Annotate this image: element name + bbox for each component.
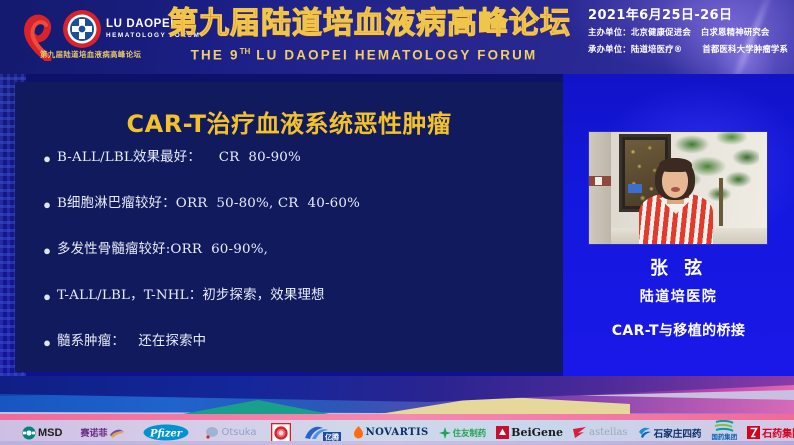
- sponsor-name: Otsuka: [221, 427, 256, 438]
- sponsor-name: NOVARTIS: [366, 427, 429, 438]
- astellas-logo-icon: [573, 427, 587, 439]
- speaker-mouth: [671, 187, 680, 192]
- bullet-text: B-ALL/LBL效果最好： CR 80-90%: [57, 148, 301, 168]
- bullet-dot-icon: ●: [37, 240, 57, 261]
- forum-title-en-ordinal: TH: [240, 47, 251, 56]
- sponsor-name: 住友制药: [453, 427, 487, 439]
- forum-logo-lockup: LU DAOPEI HEMATOLOGY FORUM 第九届陆道培血液病高峰论坛: [22, 5, 168, 69]
- sumitomo-logo-icon: [439, 427, 451, 439]
- sponsor-name: 国药集团: [712, 432, 738, 441]
- video-plant-stem: [719, 178, 723, 226]
- host-org-2: 白求恩精神研究会: [701, 27, 770, 37]
- list-item: ● B细胞淋巴瘤较好：ORR 50-80%, CR 40-60%: [37, 194, 547, 240]
- speaker-name: 张 弦: [563, 258, 794, 280]
- speaker-organization: 陆道培医院: [563, 288, 794, 306]
- list-item: ● T-ALL/LBL，T-NHL：初步探索，效果理想: [37, 286, 547, 332]
- cspc-logo-icon: [747, 426, 760, 439]
- organizer-label: 承办单位：: [588, 44, 631, 54]
- footer-bottom-rim: [0, 441, 794, 445]
- host-label: 主办单位：: [588, 27, 631, 37]
- bullet-text: T-ALL/LBL，T-NHL：初步探索，效果理想: [57, 286, 325, 306]
- bullet-dot-icon: ●: [37, 194, 57, 215]
- slide-title: CAR-T治疗血液系统恶性肿瘤: [15, 104, 563, 139]
- sponsor-footer: MSD 赛诺菲 Pfizer Otsuk: [0, 376, 794, 445]
- bullet-dot-icon: ●: [37, 148, 57, 169]
- video-artwork-accent: [628, 184, 642, 193]
- presentation-screenshot: LU DAOPEI HEMATOLOGY FORUM 第九届陆道培血液病高峰论坛…: [0, 0, 794, 445]
- video-door: [589, 132, 611, 245]
- yiteng-logo-icon: 亿腾: [303, 424, 343, 442]
- logo-en-primary: LU DAOPEI: [106, 19, 174, 31]
- forum-title-en-prefix: THE 9: [191, 47, 240, 62]
- beigene-logo-icon: [496, 426, 509, 439]
- otsuka-logo-icon: [205, 426, 219, 440]
- sponsor-name: MSD: [38, 427, 62, 439]
- bullet-dot-icon: ●: [37, 332, 57, 353]
- bullet-dot-icon: ●: [37, 286, 57, 307]
- host-row: 主办单位：北京健康促进会白求恩精神研究会: [588, 24, 792, 41]
- svg-text:亿腾: 亿腾: [325, 432, 340, 441]
- sponsor-name: astellas: [589, 427, 628, 438]
- sponsor-name: 石家庄四药: [654, 426, 702, 440]
- speaker-video[interactable]: [588, 131, 768, 245]
- novartis-logo-icon: [353, 426, 364, 439]
- organizer-org-1: 陆道培医疗®: [631, 44, 682, 54]
- forum-date: 2021年6月25日-26日: [588, 8, 792, 24]
- slide-bullet-list: ● B-ALL/LBL效果最好： CR 80-90% ● B细胞淋巴瘤较好：OR…: [37, 148, 547, 372]
- video-door-knob: [595, 177, 602, 185]
- sjz-siyao-logo-icon: [638, 426, 652, 439]
- speaker-panel: 张 弦 陆道培医院 CAR-T与移植的桥接: [563, 74, 794, 376]
- sponsor-name: 石药集团: [762, 425, 794, 440]
- speaker-topic: CAR-T与移植的桥接: [563, 322, 794, 340]
- forum-title-en-suffix: LU DAOPEI HEMATOLOGY FORUM: [250, 47, 537, 62]
- svg-text:Pfizer: Pfizer: [149, 429, 183, 440]
- forum-header-banner: LU DAOPEI HEMATOLOGY FORUM 第九届陆道培血液病高峰论坛…: [0, 0, 794, 74]
- sponsor-name: 赛诺菲: [80, 426, 107, 439]
- red-circle-logo-icon: [271, 423, 291, 443]
- sanofi-logo-icon: [109, 426, 125, 440]
- pfizer-logo-icon: Pfizer: [143, 424, 189, 441]
- list-item: ● 髓系肿瘤： 还在探索中: [37, 332, 547, 372]
- presentation-stage: CAR-T治疗血液系统恶性肿瘤 ● B-ALL/LBL效果最好： CR 80-9…: [0, 74, 794, 376]
- forum-title-cn: 第九届陆道培血液病高峰论坛: [168, 6, 560, 42]
- msd-logo-icon: [22, 426, 36, 440]
- header-meta-block: 2021年6月25日-26日 主办单位：北京健康促进会白求恩精神研究会 承办单位…: [588, 8, 792, 58]
- slide-content: CAR-T治疗血液系统恶性肿瘤 ● B-ALL/LBL效果最好： CR 80-9…: [15, 82, 563, 372]
- list-item: ● B-ALL/LBL效果最好： CR 80-90%: [37, 148, 547, 194]
- medical-cross-seal-icon: [62, 9, 102, 49]
- organizer-row: 承办单位：陆道培医疗®首都医科大学肿瘤学系: [588, 41, 792, 58]
- list-item: ● 多发性骨髓瘤较好:ORR 60-90%,: [37, 240, 547, 286]
- bullet-text: 多发性骨髓瘤较好:ORR 60-90%,: [57, 240, 268, 260]
- sponsor-name: BeiGene: [511, 426, 563, 439]
- organizer-org-2: 首都医科大学肿瘤学系: [702, 44, 788, 54]
- logo-cn-line: 第九届陆道培血液病高峰论坛: [40, 51, 141, 58]
- bullet-text: 髓系肿瘤： 还在探索中: [57, 332, 206, 352]
- bullet-text: B细胞淋巴瘤较好：ORR 50-80%, CR 40-60%: [57, 194, 360, 214]
- speaker-fringe: [659, 158, 692, 172]
- host-org-1: 北京健康促进会: [631, 27, 691, 37]
- forum-title-en: THE 9TH LU DAOPEI HEMATOLOGY FORUM: [168, 44, 560, 62]
